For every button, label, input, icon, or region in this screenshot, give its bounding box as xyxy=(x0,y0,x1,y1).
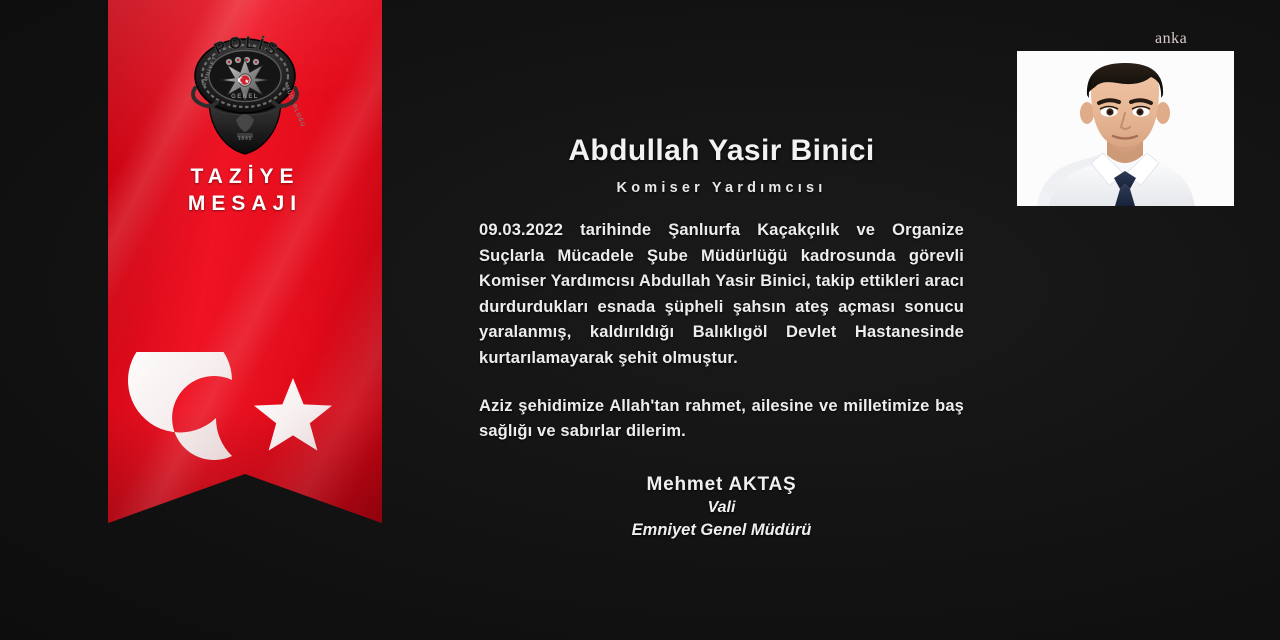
signature-block: Mehmet AKTAŞ Vali Emniyet Genel Müdürü xyxy=(479,473,964,542)
memorial-poster: POLİS xyxy=(0,0,1280,640)
signature-office: Emniyet Genel Müdürü xyxy=(479,519,964,542)
message-paragraph-1: 09.03.2022 tarihinde Şanlıurfa Kaçakçılı… xyxy=(479,218,964,372)
signature-name: Mehmet AKTAŞ xyxy=(479,473,964,497)
officer-photo xyxy=(1017,51,1234,206)
anka-watermark: anka xyxy=(1155,30,1187,48)
red-ribbon-banner: POLİS xyxy=(108,0,382,523)
officer-name: Abdullah Yasir Binici xyxy=(479,134,964,168)
svg-text:1845: 1845 xyxy=(238,136,252,142)
police-emblem-icon: POLİS xyxy=(179,28,311,156)
signature-role: Vali xyxy=(479,497,964,519)
officer-rank: Komiser Yardımcısı xyxy=(479,180,964,196)
ribbon-title-line1: TAZİYE xyxy=(108,163,382,190)
crescent-and-star-icon xyxy=(121,352,369,484)
message-paragraph-2: Aziz şehidimize Allah'tan rahmet, ailesi… xyxy=(479,394,964,445)
svg-text:GENEL: GENEL xyxy=(231,94,259,100)
message-content: Abdullah Yasir Binici Komiser Yardımcısı… xyxy=(479,134,964,542)
ribbon-title-line2: MESAJI xyxy=(108,190,382,217)
ribbon-title: TAZİYE MESAJI xyxy=(108,163,382,217)
